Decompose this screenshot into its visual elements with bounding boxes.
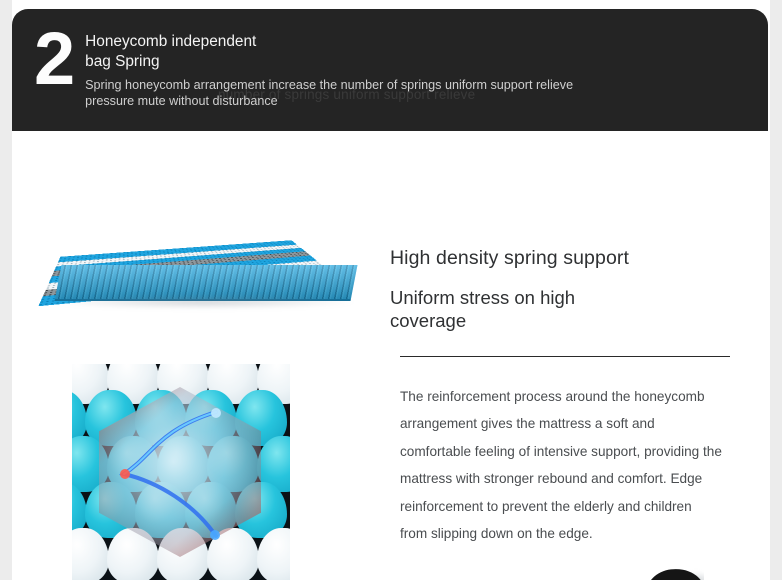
header-text-group: Honeycomb independent bag Spring Spring … — [85, 29, 754, 110]
spring-mattress-figure — [32, 169, 372, 329]
product-detail-page: number of springs uniform support reliev… — [12, 0, 770, 580]
headline-primary: High density spring support — [390, 247, 629, 270]
step-number: 2 — [34, 25, 73, 93]
section-header-banner: number of springs uniform support reliev… — [12, 9, 768, 131]
honeycomb-hexagon-image — [72, 364, 290, 580]
page-gutter-right — [770, 0, 782, 580]
section-body: High density spring support Uniform stre… — [12, 131, 770, 580]
mattress-drop-shadow — [54, 295, 354, 309]
header-content: 2 Honeycomb independent bag Spring Sprin… — [34, 29, 754, 110]
honeycomb-hexagon-figure — [72, 364, 290, 580]
text-column: High density spring support Uniform stre… — [390, 131, 740, 580]
next-section-peek-object — [646, 567, 704, 580]
header-subtitle: Spring honeycomb arrangement increase th… — [85, 78, 645, 110]
divider-line — [400, 356, 730, 357]
header-title: Honeycomb independent bag Spring — [85, 32, 754, 71]
spring-mattress-image — [32, 169, 372, 329]
body-paragraph: The reinforcement process around the hon… — [400, 383, 722, 548]
headline-secondary: Uniform stress on high coverage — [390, 286, 634, 333]
